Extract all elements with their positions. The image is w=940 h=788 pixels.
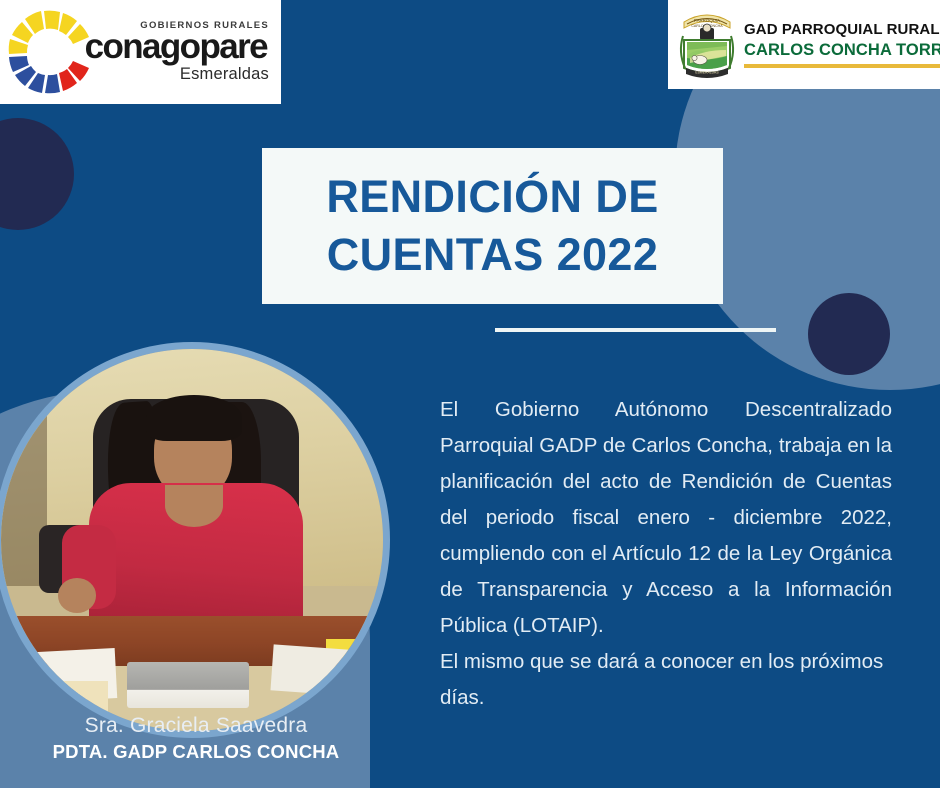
conagopare-logo-panel: GOBIERNOS RURALES conagopare Esmeraldas: [0, 0, 281, 104]
poster-title-line-1: RENDICIÓN DE: [326, 168, 658, 226]
gad-shield-icon: PARROQUIA CARLOS CONCHA: [676, 6, 738, 84]
decorative-circle-navy-right: [808, 293, 890, 375]
caption-person-name: Sra. Graciela Saavedra: [0, 712, 392, 740]
conagopare-wordmark-group: GOBIERNOS RURALES conagopare Esmeraldas: [84, 21, 273, 84]
body-paragraph-1: El Gobierno Autónomo Descentralizado Par…: [440, 392, 892, 644]
poster-title-box: RENDICIÓN DE CUENTAS 2022: [262, 148, 723, 304]
portrait-photo-image: [1, 349, 383, 731]
svg-text:ESMERALDAS: ESMERALDAS: [695, 70, 719, 74]
gad-logo-panel: PARROQUIA CARLOS CONCHA: [668, 0, 940, 89]
gad-underline-rule: [744, 64, 940, 68]
title-divider-rule: [495, 328, 776, 332]
conagopare-wordmark: conagopare: [85, 31, 267, 63]
gad-title-line-1: GAD PARROQUIAL RURAL: [744, 21, 940, 40]
caption-person-role: PDTA. GADP CARLOS CONCHA: [0, 740, 392, 765]
portrait-photo: [0, 342, 390, 738]
poster-canvas: GOBIERNOS RURALES conagopare Esmeraldas …: [0, 0, 940, 788]
poster-body-text: El Gobierno Autónomo Descentralizado Par…: [440, 392, 892, 716]
decorative-circle-navy-topleft: [0, 118, 74, 230]
conagopare-subtitle: Esmeraldas: [180, 65, 269, 83]
body-paragraph-2: El mismo que se dará a conocer en los pr…: [440, 644, 892, 716]
poster-title-line-2: CUENTAS 2022: [327, 226, 659, 284]
conagopare-ring-icon: [4, 6, 96, 98]
portrait-caption: Sra. Graciela Saavedra PDTA. GADP CARLOS…: [0, 712, 392, 765]
svg-text:PARROQUIA: PARROQUIA: [694, 18, 720, 23]
gad-wordmark-group: GAD PARROQUIAL RURAL CARLOS CONCHA TORRE…: [738, 21, 940, 67]
gad-title-line-2: CARLOS CONCHA TORRES: [744, 40, 940, 61]
